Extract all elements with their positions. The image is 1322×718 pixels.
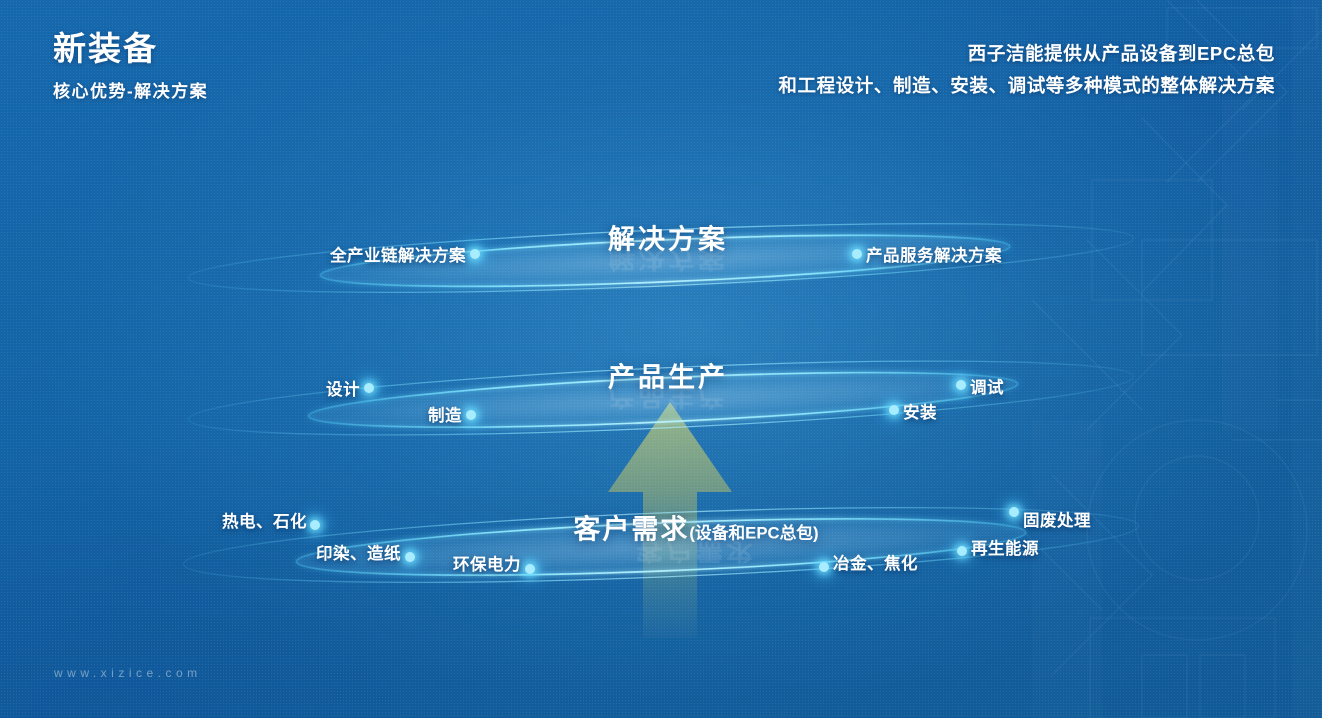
ring-title-solution-text: 解决方案 [608,225,728,255]
ring-title-customer-demand: 客户需求(设备和EPC总包) [573,508,818,547]
node-label-manufacture[interactable]: 制造 [428,402,462,426]
node-dot-eco-power[interactable] [525,564,535,574]
node-label-solid-waste[interactable]: 固废处理 [1023,507,1091,531]
header-tagline-line1: 西子洁能提供从产品设备到EPC总包 [778,38,1275,70]
ring-title-customer-demand-suffix: (设备和EPC总包) [689,524,818,543]
node-dot-metallurgy-coking[interactable] [819,562,829,572]
node-label-metallurgy-coking[interactable]: 冶金、焦化 [833,550,918,574]
header-right: 西子洁能提供从产品设备到EPC总包 和工程设计、制造、安装、调试等多种模式的整体… [778,38,1275,103]
node-label-printing-paper[interactable]: 印染、造纸 [316,540,401,564]
node-dot-printing-paper[interactable] [405,552,415,562]
node-dot-product-service[interactable] [852,249,862,259]
header-tagline-line2: 和工程设计、制造、安装、调试等多种模式的整体解决方案 [778,70,1275,102]
node-dot-design[interactable] [364,383,374,393]
node-label-renewable-energy[interactable]: 再生能源 [971,535,1039,559]
node-label-product-service[interactable]: 产品服务解决方案 [866,242,1002,266]
background-decoration [992,0,1322,718]
ring-title-solution: 解决方案 [608,218,728,257]
ring-title-production-text: 产品生产 [608,363,728,393]
node-dot-manufacture[interactable] [466,410,476,420]
node-label-eco-power[interactable]: 环保电力 [453,551,521,575]
node-label-commissioning[interactable]: 调试 [970,374,1004,398]
node-label-installation[interactable]: 安装 [903,399,937,423]
node-label-design[interactable]: 设计 [326,376,360,400]
node-dot-solid-waste[interactable] [1009,507,1019,517]
footer-website-url[interactable]: www.xizice.com [54,666,202,680]
page-subtitle: 核心优势-解决方案 [53,77,208,102]
ring-title-customer-demand-text: 客户需求 [573,515,689,545]
node-dot-thermal-petrochem[interactable] [310,520,320,530]
node-dot-installation[interactable] [889,405,899,415]
node-dot-commissioning[interactable] [956,380,966,390]
header-left: 新装备 核心优势-解决方案 [53,30,208,102]
node-dot-full-chain[interactable] [470,249,480,259]
slide-canvas: 新装备 核心优势-解决方案 西子洁能提供从产品设备到EPC总包 和工程设计、制造… [0,0,1322,718]
page-title: 新装备 [53,30,208,68]
node-label-full-chain[interactable]: 全产业链解决方案 [330,242,466,266]
node-dot-renewable-energy[interactable] [957,546,967,556]
ring-title-production: 产品生产 [608,356,728,395]
node-label-thermal-petrochem[interactable]: 热电、石化 [222,508,307,532]
